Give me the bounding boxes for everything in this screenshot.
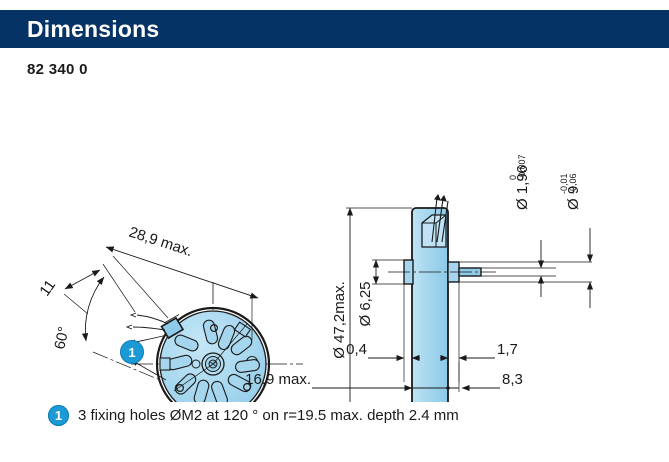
dim-label-pilot-diameter: Ø 6,25 <box>357 281 374 326</box>
callout-badge-1: 1 <box>120 340 144 364</box>
part-number: 82 340 0 <box>27 61 88 78</box>
dimensions-page: Dimensions 82 340 0 <box>0 0 669 462</box>
dim-boss-length: 1,7 <box>440 341 518 358</box>
dim-label-shaft-length: 8,3 <box>502 371 523 388</box>
dim-boss-diameter: Ø 9 -0,01 -0,06 <box>559 173 590 308</box>
page-title: Dimensions <box>27 16 159 43</box>
dim-tol-lower-shaft: -0,007 <box>517 154 527 180</box>
dim-label-boss-length: 1,7 <box>497 341 518 358</box>
dim-shaft-length: 8,3 <box>462 371 523 388</box>
dim-flange-thickness: 0,4 <box>346 341 420 358</box>
dim-tol-lower-boss: -0,06 <box>568 173 578 194</box>
dim-label-overall-width: 28,9 max. <box>127 224 195 261</box>
footnote-badge-icon: 1 <box>48 405 69 426</box>
footnote: 1 3 fixing holes ØM2 at 120 ° on r=19.5 … <box>48 405 459 426</box>
hub-satellite-left <box>192 360 200 368</box>
dim-lead-length: 11 <box>36 264 135 314</box>
dim-lead-angle: 60° <box>51 277 160 380</box>
dim-label-flange-thickness: 0,4 <box>346 341 367 358</box>
side-view-group: Ø 47,2max. Ø 6,25 Ø 1,96 0 -0,007 <box>245 154 592 402</box>
dim-label-lead-angle: 60° <box>51 325 72 351</box>
dim-shaft-diameter: Ø 1,96 0 -0,007 <box>508 154 541 297</box>
dim-pilot-diameter: Ø 6,25 <box>357 260 376 327</box>
dim-label-body-length: 16,9 max. <box>245 371 311 388</box>
side-extension-lines <box>346 208 592 402</box>
footnote-text: 3 fixing holes ØM2 at 120 ° on r=19.5 ma… <box>78 407 459 424</box>
dim-label-lead-length: 11 <box>36 277 59 300</box>
dim-outer-diameter: Ø 47,2max. <box>331 208 350 402</box>
section-header: Dimensions <box>0 10 669 48</box>
technical-drawing: 28,9 max. 11 60° <box>0 92 669 402</box>
